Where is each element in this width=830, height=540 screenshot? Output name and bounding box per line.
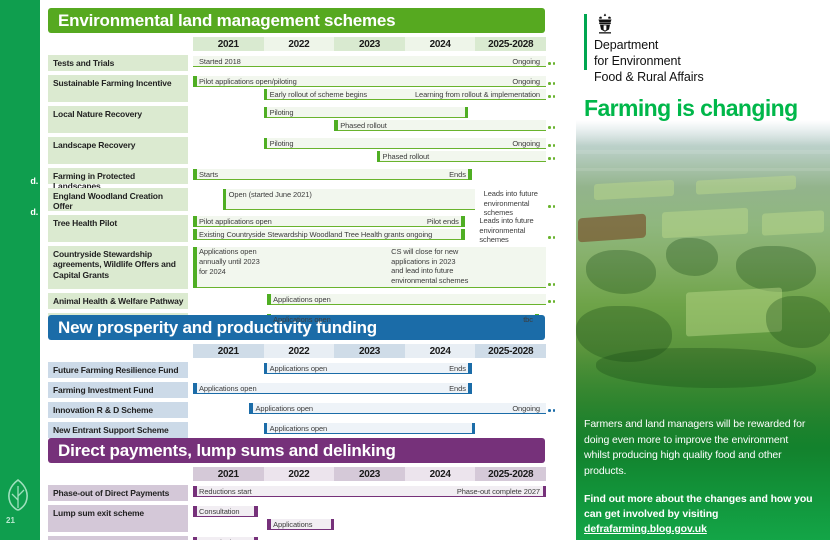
section-prosperity: New prosperity and productivity funding2… — [48, 315, 545, 442]
bar-start-cap — [334, 120, 338, 131]
bar-label-start: Pilot applications open — [199, 216, 272, 227]
year-header-2025-2028: 2025-2028 — [475, 467, 546, 481]
royal-crown-icon — [594, 12, 616, 34]
continues-dots — [548, 138, 558, 149]
defra-name-line: Department — [594, 37, 704, 53]
timeline-bar: Applications open — [264, 423, 476, 434]
row-label: Animal Health & Welfare Pathway — [48, 293, 188, 309]
bar-label-end: Phase-out complete 2027 — [457, 486, 540, 497]
year-header-row: 20212022202320242025-2028 — [48, 37, 545, 51]
bar-end-cap — [461, 216, 465, 227]
table-row: Tests and TrialsStarted 2018Ongoing — [48, 55, 545, 73]
left-green-spine: d.d. 21 — [0, 0, 40, 540]
row-label: Lump sum exit scheme — [48, 505, 188, 532]
bar-label-start: Starts — [199, 169, 218, 180]
bar-start-cap — [193, 169, 197, 180]
year-header-2024: 2024 — [405, 344, 476, 358]
bar-end-cap — [254, 506, 258, 517]
bar-end-cap — [461, 229, 465, 240]
timeline-bar: Applications open — [267, 294, 546, 305]
bar-fill — [193, 56, 546, 67]
bar-fill — [264, 138, 546, 149]
table-row: Sustainable Farming IncentivePilot appli… — [48, 75, 545, 104]
timeline-bar: Reductions startPhase-out complete 2027 — [193, 486, 546, 497]
scheme-timeline-chart: Environmental land management schemes202… — [48, 0, 548, 540]
continues-dots — [548, 120, 558, 131]
continues-dots — [548, 56, 558, 67]
defra-name-line: for Environment — [594, 53, 704, 69]
year-header-2024: 2024 — [405, 467, 476, 481]
timeline-bar: Phased rollout — [377, 151, 546, 162]
year-header-2022: 2022 — [264, 467, 335, 481]
year-header-2025-2028: 2025-2028 — [475, 344, 546, 358]
defra-name-line: Food & Rural Affairs — [594, 69, 704, 85]
table-row: Innovation R & D SchemeApplications open… — [48, 402, 545, 420]
bar-start-cap — [377, 151, 381, 162]
bar-end-cap — [331, 519, 335, 530]
bar-label-start: Applications — [273, 519, 312, 530]
timeline-rows: Phase-out of Direct PaymentsReductions s… — [48, 485, 545, 540]
photo-top-fade — [576, 120, 830, 146]
bar-label-start: Applications open — [270, 423, 328, 434]
bar-start-cap — [264, 138, 268, 149]
table-row: Farming Investment FundApplications open… — [48, 382, 545, 400]
row-label: Farming in Protected Landscapes — [48, 168, 188, 184]
year-header-2023: 2023 — [334, 344, 405, 358]
timeline-bar: Applications openEnds — [264, 363, 472, 374]
row-label: Phase-out of Direct Payments — [48, 485, 188, 501]
continues-dots — [548, 151, 558, 162]
timeline-bar: StartsEnds — [193, 169, 472, 180]
table-row: Countryside Stewardship agreements, Wild… — [48, 246, 545, 291]
table-row: Animal Health & Welfare PathwayApplicati… — [48, 293, 545, 311]
timeline-bar: Open (started June 2021) — [223, 189, 476, 210]
timeline-bar: Pilot applications openPilot ends — [193, 216, 465, 227]
right-promo-panel: Departmentfor EnvironmentFood & Rural Af… — [562, 0, 830, 540]
year-header-2021: 2021 — [193, 344, 264, 358]
row-note: Leads into future environmental schemes — [484, 189, 545, 218]
continues-dots — [548, 199, 558, 210]
promo-body-text: Farmers and land managers will be reward… — [584, 417, 816, 479]
section-title-direct-payments: Direct payments, lump sums and delinking — [48, 438, 545, 463]
defra-blog-link[interactable]: defrafarming.blog.gov.uk — [584, 523, 707, 535]
bar-label-end: Ends — [449, 169, 466, 180]
table-row: England Woodland Creation OfferOpen (sta… — [48, 188, 545, 213]
table-row: Future Farming Resilience FundApplicatio… — [48, 362, 545, 380]
defra-department-name: Departmentfor EnvironmentFood & Rural Af… — [594, 37, 704, 85]
timeline-bar: Applications — [267, 519, 334, 530]
year-header-2021: 2021 — [193, 37, 264, 51]
timeline-bar: Pilot applications open/pilotingOngoing — [193, 76, 546, 87]
bar-end-cap — [468, 169, 472, 180]
year-header-2022: 2022 — [264, 344, 335, 358]
section-environmental: Environmental land management schemes202… — [48, 8, 545, 333]
timeline-rows: Future Farming Resilience FundApplicatio… — [48, 362, 545, 442]
table-row: Landscape RecoveryPilotingOngoingPhased … — [48, 137, 545, 166]
bar-end-cap — [465, 107, 469, 118]
timeline-bar: Applications openEnds — [193, 383, 472, 394]
year-header-2023: 2023 — [334, 467, 405, 481]
year-header-row: 20212022202320242025-2028 — [48, 344, 545, 358]
year-header-2025-2028: 2025-2028 — [475, 37, 546, 51]
bar-label-start: Phased rollout — [383, 151, 430, 162]
bar-start-cap — [267, 294, 271, 305]
row-label: England Woodland Creation Offer — [48, 188, 188, 211]
bar-start-cap — [193, 229, 197, 240]
bar-start-cap — [193, 247, 197, 288]
bar-label-start: Applications open — [270, 363, 328, 374]
timeline-bar: Early rollout of scheme beginsLearning f… — [264, 89, 546, 100]
table-row: Local Nature RecoveryPilotingPhased roll… — [48, 106, 545, 135]
bar-label-start: Applications open annually until 2023 fo… — [199, 247, 260, 277]
table-row: Phase-out of Direct PaymentsReductions s… — [48, 485, 545, 503]
bar-start-cap — [264, 423, 268, 434]
bar-start-cap — [193, 76, 197, 87]
bar-label-start: Reductions start — [199, 486, 252, 497]
bar-label-start: Piloting — [270, 138, 294, 149]
continues-dots — [548, 89, 558, 100]
spine-year-mark: 21 — [6, 516, 15, 525]
row-note: CS will close for new applications in 20… — [391, 247, 468, 285]
bar-label-end: Ongoing — [512, 76, 540, 87]
year-header-2022: 2022 — [264, 37, 335, 51]
continues-dots — [548, 230, 558, 241]
bar-start-cap — [264, 89, 268, 100]
year-header-2021: 2021 — [193, 467, 264, 481]
bar-label-end: Ongoing — [512, 403, 540, 414]
bar-start-cap — [249, 403, 253, 414]
section-title-environmental: Environmental land management schemes — [48, 8, 545, 33]
bar-label-end: Ongoing — [512, 138, 540, 149]
row-label: Innovation R & D Scheme — [48, 402, 188, 418]
timeline-bar: Consultation — [193, 506, 258, 517]
bar-label-start: Early rollout of scheme begins — [270, 89, 367, 100]
bar-label-start: Applications open — [199, 383, 257, 394]
bar-label-start: Applications open — [273, 294, 331, 305]
bar-start-cap — [264, 107, 268, 118]
bar-start-cap — [193, 216, 197, 227]
logo-green-bar — [584, 14, 587, 70]
bar-label-start: Consultation — [199, 506, 240, 517]
continues-dots — [548, 277, 558, 288]
spine-cut-text-fragments: d.d. — [0, 0, 40, 540]
bar-label-end: Ongoing — [512, 56, 540, 67]
timeline-bar: Started 2018Ongoing — [193, 56, 546, 67]
bar-label-start: Pilot applications open/piloting — [199, 76, 297, 87]
bar-end-cap — [468, 383, 472, 394]
year-header-row: 20212022202320242025-2028 — [48, 467, 545, 481]
bar-start-cap — [193, 506, 197, 517]
table-row: Delinked paymentsConsultationDelinkingEn… — [48, 536, 545, 540]
bar-label-start: Phased rollout — [340, 120, 387, 131]
table-row: Lump sum exit schemeConsultationApplicat… — [48, 505, 545, 534]
bar-fill — [193, 169, 472, 180]
cta-lead-text: Find out more about the changes and how … — [584, 493, 812, 520]
row-label: Local Nature Recovery — [48, 106, 188, 133]
row-label: Future Farming Resilience Fund — [48, 362, 188, 378]
table-row: Farming in Protected LandscapesStartsEnd… — [48, 168, 545, 186]
spine-text-fragment: d. — [30, 176, 38, 186]
row-label: Farming Investment Fund — [48, 382, 188, 398]
row-label: New Entrant Support Scheme — [48, 422, 188, 438]
timeline-bar: Phased rollout — [334, 120, 546, 131]
bar-label-start: Open (started June 2021) — [229, 189, 312, 200]
year-header-2023: 2023 — [334, 37, 405, 51]
bar-start-cap — [223, 189, 227, 210]
bar-end-cap — [543, 486, 547, 497]
bar-start-cap — [193, 486, 197, 497]
year-header-2024: 2024 — [405, 37, 476, 51]
continues-dots — [548, 294, 558, 305]
continues-dots — [548, 403, 558, 414]
bar-label-start: Piloting — [270, 107, 294, 118]
timeline-bar: Piloting — [264, 107, 469, 118]
bar-label-end: tbc — [523, 314, 533, 325]
bar-label-end: Ends — [449, 383, 466, 394]
bar-start-cap — [267, 519, 271, 530]
bar-label-end: Pilot ends — [427, 216, 459, 227]
row-note: Leads into future environmental schemes — [479, 216, 545, 245]
bar-end-cap — [468, 363, 472, 374]
continues-dots — [548, 76, 558, 87]
row-label: Sustainable Farming Incentive — [48, 75, 188, 102]
row-label: Countryside Stewardship agreements, Wild… — [48, 246, 188, 289]
row-label: Tree Health Pilot — [48, 215, 188, 242]
bar-label-start: Existing Countryside Stewardship Woodlan… — [199, 229, 432, 240]
bar-fill — [264, 107, 469, 118]
bar-end-cap — [472, 423, 476, 434]
section-direct-payments: Direct payments, lump sums and delinking… — [48, 438, 545, 540]
timeline-bar: Applications openOngoing — [249, 403, 546, 414]
row-label: Tests and Trials — [48, 55, 188, 71]
bar-start-cap — [193, 383, 197, 394]
timeline-bar: PilotingOngoing — [264, 138, 546, 149]
row-label: Delinked payments — [48, 536, 188, 540]
bar-start-cap — [264, 363, 268, 374]
spine-text-fragment: d. — [30, 207, 38, 217]
timeline-bar: Applications open annually until 2023 fo… — [193, 247, 546, 288]
bar-label-end: Learning from rollout & implementation — [415, 89, 540, 100]
timeline-bar: Existing Countryside Stewardship Woodlan… — [193, 229, 465, 240]
table-row: Tree Health PilotPilot applications open… — [48, 215, 545, 244]
bar-label-end: Ends — [449, 363, 466, 374]
row-label: Landscape Recovery — [48, 137, 188, 164]
bar-label-start: Started 2018 — [199, 56, 241, 67]
bar-label-start: Applications open — [255, 403, 313, 414]
page-title: Farming is changing — [584, 95, 798, 122]
bar-label-start: Applications open — [273, 314, 331, 325]
promo-cta-text: Find out more about the changes and how … — [584, 492, 816, 537]
timeline-rows: Tests and TrialsStarted 2018OngoingSusta… — [48, 55, 545, 333]
leaf-recycle-icon — [4, 478, 32, 512]
